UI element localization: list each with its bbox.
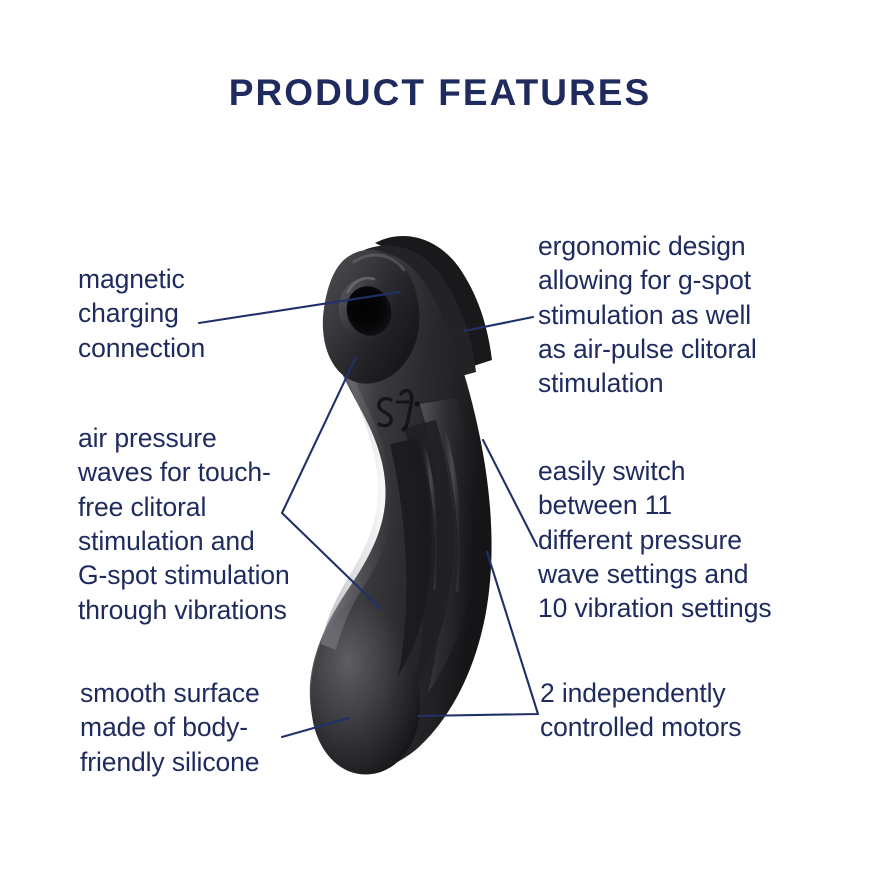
leader-line-magnetic (199, 292, 400, 323)
leader-line-air-pressure (282, 357, 381, 609)
leader-line-settings (483, 440, 537, 546)
product-features-infographic: PRODUCT FEATURES (0, 0, 880, 880)
leader-lines (0, 0, 880, 880)
leader-line-ergonomic (464, 317, 533, 331)
leader-line-smooth-surface (282, 718, 349, 737)
leader-line-motors (418, 552, 538, 716)
